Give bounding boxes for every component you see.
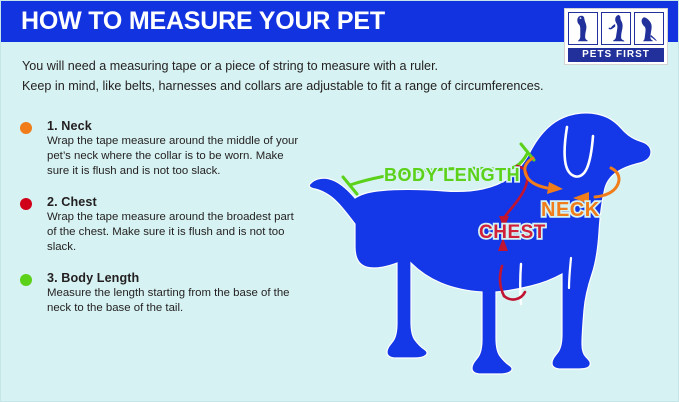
logo-wordmark-text: PETS FIRST	[582, 50, 650, 60]
logo-wordmark: PETS FIRST	[568, 48, 664, 62]
dog-measurement-diagram: BODY LENGTH NECK CHEST	[299, 106, 679, 402]
list-item: 2. Chest Wrap the tape measure around th…	[20, 195, 305, 255]
step-body-body-length: Measure the length starting from the bas…	[47, 286, 305, 316]
step-bullet-body-length	[20, 274, 32, 286]
chest-label: CHEST	[479, 222, 546, 243]
step-bullet-neck	[20, 122, 32, 134]
step-title-chest: 2. Chest	[47, 195, 305, 209]
howling-dog-icon	[634, 12, 664, 45]
dog-silhouette-icon	[309, 113, 651, 374]
pets-first-logo: PETS FIRST	[564, 8, 668, 65]
list-item: 1. Neck Wrap the tape measure around the…	[20, 119, 305, 179]
intro-text: You will need a measuring tape or a piec…	[22, 57, 542, 96]
neck-label: NECK	[541, 199, 600, 221]
logo-panels	[568, 12, 664, 45]
sitting-dog-icon	[568, 12, 598, 45]
step-body-neck: Wrap the tape measure around the middle …	[47, 134, 305, 179]
intro-line-2: Keep in mind, like belts, harnesses and …	[22, 77, 542, 97]
step-bullet-chest	[20, 198, 32, 210]
measurement-guide-page: HOW TO MEASURE YOUR PET	[0, 0, 679, 402]
body-length-label: BODY LENGTH	[384, 165, 520, 185]
step-title-body-length: 3. Body Length	[47, 271, 305, 285]
step-title-neck: 1. Neck	[47, 119, 305, 133]
page-title: HOW TO MEASURE YOUR PET	[21, 7, 385, 36]
measurement-steps-list: 1. Neck Wrap the tape measure around the…	[20, 119, 305, 332]
begging-dog-icon	[601, 12, 631, 45]
intro-line-1: You will need a measuring tape or a piec…	[22, 57, 542, 77]
list-item: 3. Body Length Measure the length starti…	[20, 271, 305, 316]
step-body-chest: Wrap the tape measure around the broades…	[47, 210, 305, 255]
